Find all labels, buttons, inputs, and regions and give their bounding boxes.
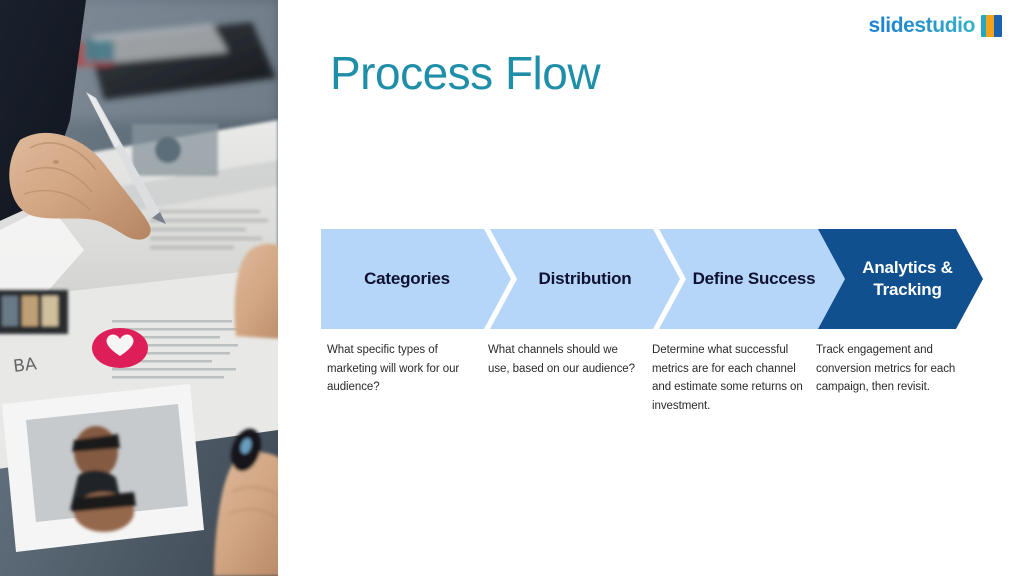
- process-step-2-description: What channels should we use, based on ou…: [488, 341, 653, 416]
- process-step-2-label: Distribution: [539, 268, 632, 290]
- page-title: Process Flow: [330, 46, 600, 100]
- slide-canvas: BA: [0, 0, 1024, 576]
- process-step-1[interactable]: Categories: [321, 229, 511, 329]
- process-step-1-description-text: What specific types of marketing will wo…: [327, 341, 480, 397]
- brand-logo-text: slidestudio: [869, 14, 975, 38]
- process-descriptions: What specific types of marketing will wo…: [321, 341, 1001, 416]
- slide-photo: BA: [0, 0, 278, 576]
- process-flow-chevrons: Categories Distribution Define Success A…: [321, 229, 983, 329]
- process-step-3-description-text: Determine what successful metrics are fo…: [652, 341, 805, 416]
- process-step-3-label: Define Success: [693, 268, 816, 290]
- process-step-1-label: Categories: [364, 268, 468, 290]
- process-step-3-description: Determine what successful metrics are fo…: [652, 341, 817, 416]
- photo-illustration: BA: [0, 0, 278, 576]
- brand-logo[interactable]: slidestudio: [869, 14, 1002, 38]
- slidestudio-logo-mark-icon: [981, 15, 1002, 37]
- process-step-3[interactable]: Define Success: [659, 229, 849, 329]
- process-step-4-description-text: Track engagement and conversion metrics …: [816, 341, 969, 397]
- process-step-1-description: What specific types of marketing will wo…: [327, 341, 492, 416]
- process-step-2-description-text: What channels should we use, based on ou…: [488, 341, 641, 378]
- process-step-4-description: Track engagement and conversion metrics …: [816, 341, 981, 416]
- process-step-2[interactable]: Distribution: [490, 229, 680, 329]
